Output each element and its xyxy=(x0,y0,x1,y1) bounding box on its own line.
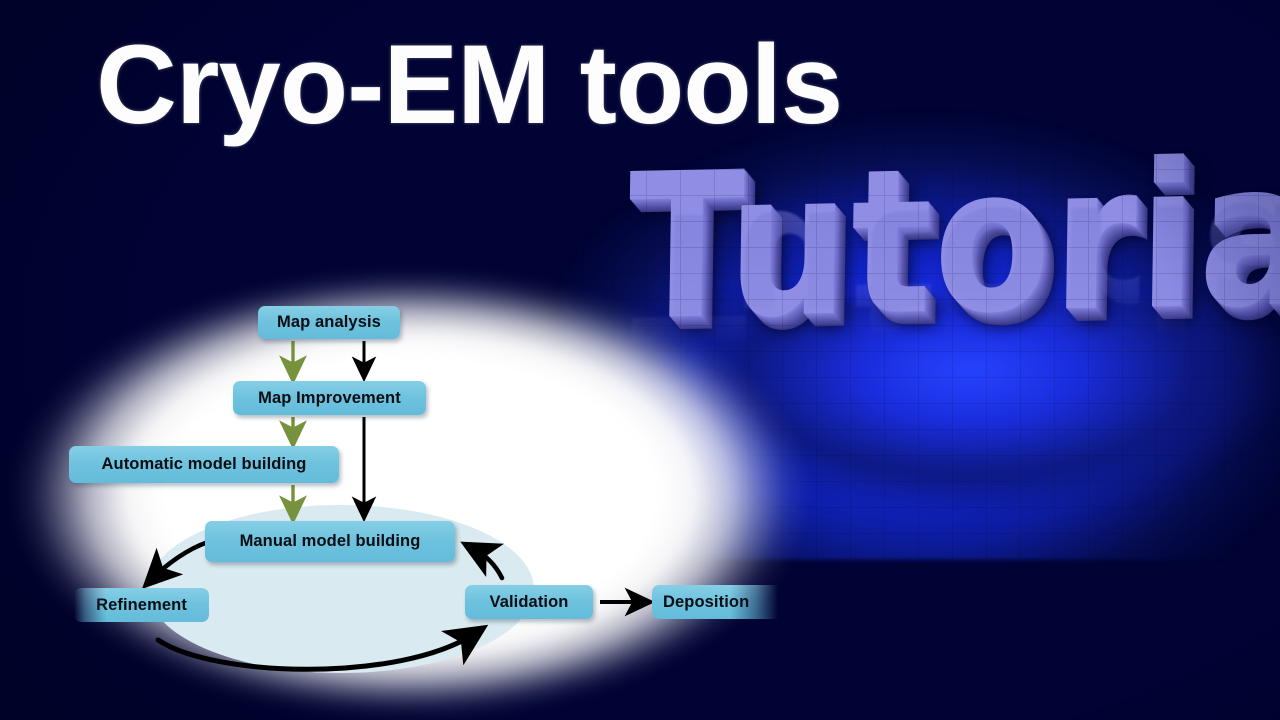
node-manual-model-building-label: Manual model building xyxy=(240,532,421,551)
node-map-improvement-label: Map Improvement xyxy=(258,389,401,408)
node-map-improvement[interactable]: Map Improvement xyxy=(233,381,426,415)
node-validation-label: Validation xyxy=(490,593,569,612)
node-automatic-model-building-label: Automatic model building xyxy=(102,455,307,474)
page-title: Cryo-EM tools xyxy=(96,26,842,144)
node-refinement[interactable]: Refinement xyxy=(74,588,209,622)
node-map-analysis-label: Map analysis xyxy=(277,313,381,332)
node-manual-model-building[interactable]: Manual model building xyxy=(205,521,455,562)
node-automatic-model-building[interactable]: Automatic model building xyxy=(69,446,339,483)
node-refinement-label: Refinement xyxy=(96,596,187,615)
slide-canvas: Tutorial Tutorial Cryo-EM tools xyxy=(0,0,1280,720)
node-deposition-label: Deposition xyxy=(663,593,749,612)
node-deposition[interactable]: Deposition xyxy=(652,585,782,619)
node-validation[interactable]: Validation xyxy=(465,585,593,619)
node-map-analysis[interactable]: Map analysis xyxy=(258,306,400,339)
